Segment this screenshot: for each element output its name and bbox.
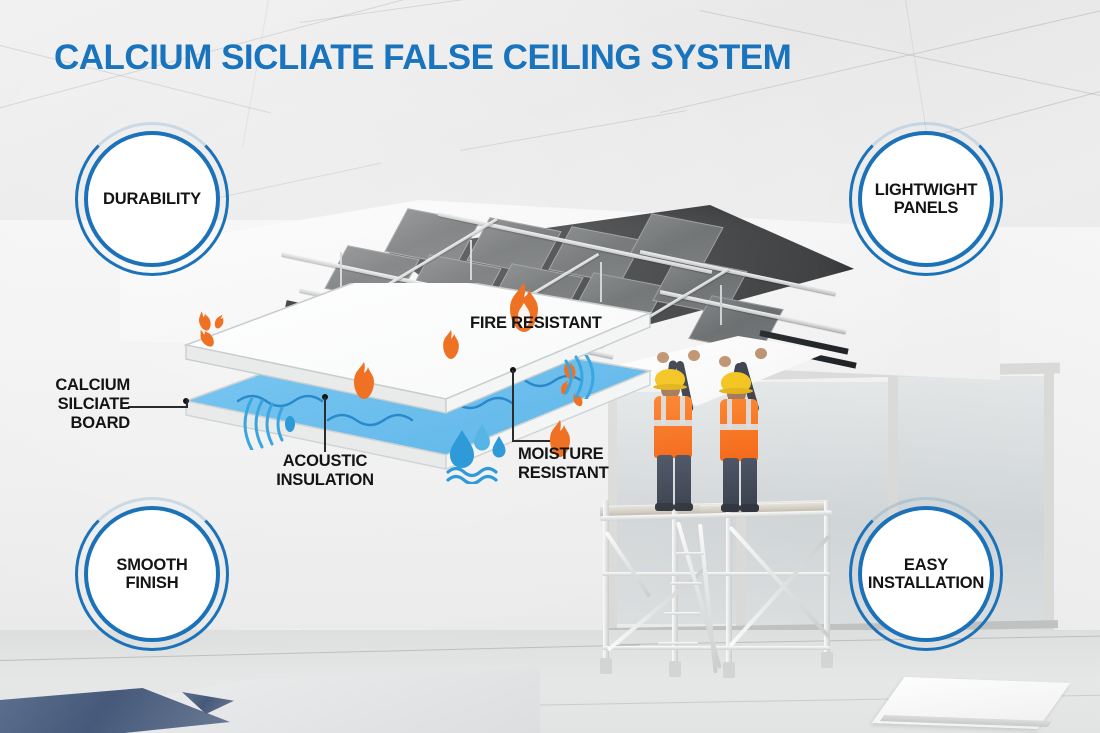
callout-label-moisture-resistant: MOISTURE RESISTANT xyxy=(518,445,628,483)
callout-leader xyxy=(324,397,326,452)
safety-vest xyxy=(720,399,758,461)
scaffold-rail xyxy=(726,572,830,576)
scaffold-ladder-rung xyxy=(670,582,702,585)
callout-leader xyxy=(512,440,550,442)
badge-label: LIGHTWIGHT PANELS xyxy=(862,181,990,218)
worker-shoe xyxy=(721,504,740,512)
vest-stripe xyxy=(654,420,692,426)
worker-shoe xyxy=(740,504,759,512)
safety-vest xyxy=(654,396,692,458)
hard-hat-brim xyxy=(653,384,687,390)
scaffold-ladder-rung xyxy=(658,642,698,645)
badge-lightwight-panels[interactable]: LIGHTWIGHT PANELS xyxy=(858,131,994,267)
badge-smooth-finish[interactable]: SMOOTH FINISH xyxy=(84,506,220,642)
vest-stripe xyxy=(746,399,751,428)
water-drops-icon xyxy=(446,422,512,484)
badge-durability[interactable]: DURABILITY xyxy=(84,131,220,267)
scaffold-rail xyxy=(726,646,830,650)
flame-icon xyxy=(350,362,378,399)
worker-leg xyxy=(723,458,739,510)
sound-waves-icon xyxy=(238,398,296,450)
worker-hand xyxy=(755,348,767,359)
badge-label: DURABILITY xyxy=(103,190,201,208)
worker-hand xyxy=(657,352,669,363)
badge-label: EASY INSTALLATION xyxy=(862,556,990,593)
scaffold-foot xyxy=(821,652,833,668)
callout-label-fire-resistant: FIRE RESISTANT xyxy=(470,314,602,333)
scaffold-foot xyxy=(600,658,612,674)
infographic-canvas: CALCIUM SICLIATE FALSE CEILING SYSTEM xyxy=(0,0,1100,733)
worker-shoe xyxy=(655,503,674,511)
callout-leader xyxy=(512,370,514,442)
hard-hat-brim xyxy=(719,388,753,394)
worker-shoe xyxy=(674,503,693,511)
worker-hand xyxy=(719,356,731,367)
ceiling-hanger xyxy=(720,285,722,325)
scaffold-post xyxy=(603,500,609,662)
sound-waves-icon xyxy=(560,355,596,399)
vest-stripe xyxy=(661,396,666,424)
vest-stripe xyxy=(727,399,732,428)
scaffold-rail xyxy=(602,572,730,576)
scaffold-ladder-rung xyxy=(676,552,704,555)
worker-leg xyxy=(657,455,673,509)
worker-leg xyxy=(741,458,757,510)
page-title: CALCIUM SICLIATE FALSE CEILING SYSTEM xyxy=(54,38,791,78)
scaffold-foot xyxy=(669,661,681,677)
ceiling-hanger xyxy=(470,240,472,280)
callout-leader xyxy=(128,406,188,408)
callout-label-acoustic-insulation: ACOUSTIC INSULATION xyxy=(254,452,396,490)
scaffold-ladder-rung xyxy=(664,612,700,615)
worker-hand xyxy=(688,350,700,361)
vest-stripe xyxy=(720,424,758,430)
flame-icon xyxy=(440,330,462,359)
badge-label: SMOOTH FINISH xyxy=(88,556,216,593)
badge-easy-installation[interactable]: EASY INSTALLATION xyxy=(858,506,994,642)
callout-label-calcium-silciate-board: CALCIUM SILCIATE BOARD xyxy=(10,376,130,432)
scaffold-foot xyxy=(723,662,735,678)
vest-stripe xyxy=(680,396,685,424)
worker-leg xyxy=(675,455,691,509)
window-mullion xyxy=(1044,370,1054,642)
